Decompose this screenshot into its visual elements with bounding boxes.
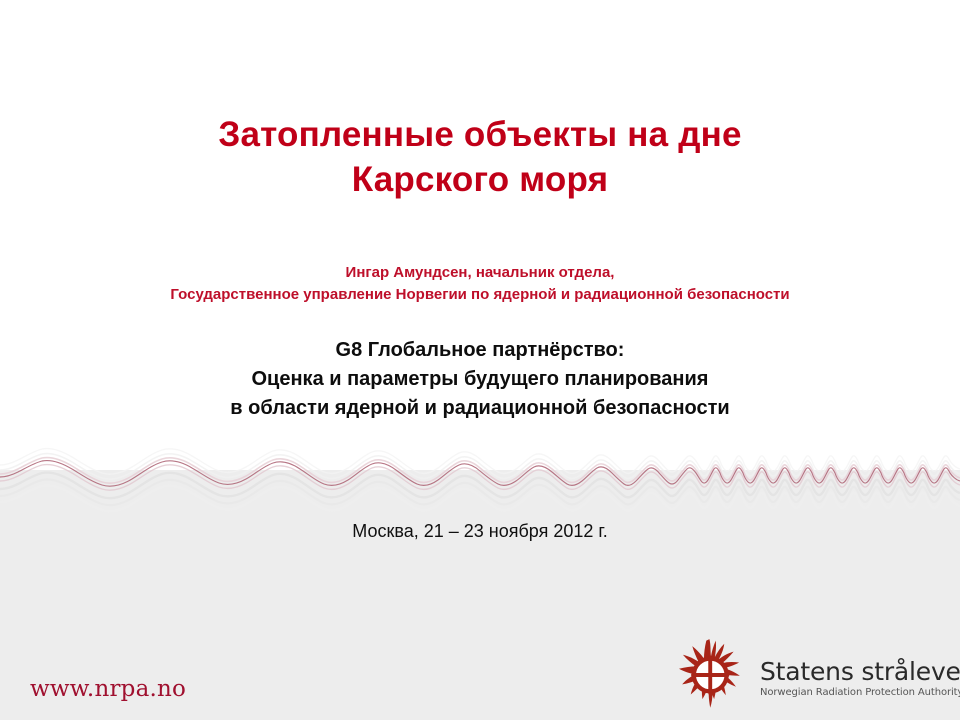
title-line-2: Карского моря [0,157,960,202]
nrpa-logo: Statens strålevern Norwegian Radiation P… [672,636,940,714]
logo-name: Statens strålevern [760,658,960,686]
author-affiliation: Ингар Амундсен, начальник отдела, Госуда… [0,262,960,306]
radiation-sun-icon [672,636,750,714]
presentation-slide: Затопленные объекты на дне Карского моря… [0,0,960,720]
author-name: Ингар Амундсен, начальник отдела, [0,262,960,284]
title-line-1: Затопленные объекты на дне [0,112,960,157]
logo-wordmark: Statens strålevern Norwegian Radiation P… [760,652,960,699]
chirp-wave-divider [0,425,960,535]
website-url[interactable]: www.nrpa.no [30,676,186,702]
logo-subtitle: Norwegian Radiation Protection Authority [760,686,960,699]
event-line-1: G8 Глобальное партнёрство: [0,336,960,365]
event-line-3: в области ядерной и радиационной безопас… [0,394,960,423]
event-place-date: Москва, 21 – 23 ноября 2012 г. [0,521,960,542]
event-details: G8 Глобальное партнёрство: Оценка и пара… [0,336,960,423]
date-text: Москва, 21 – 23 ноября 2012 г. [0,521,960,542]
slide-title: Затопленные объекты на дне Карского моря [0,112,960,202]
event-line-2: Оценка и параметры будущего планирования [0,365,960,394]
author-organisation: Государственное управление Норвегии по я… [0,284,960,306]
